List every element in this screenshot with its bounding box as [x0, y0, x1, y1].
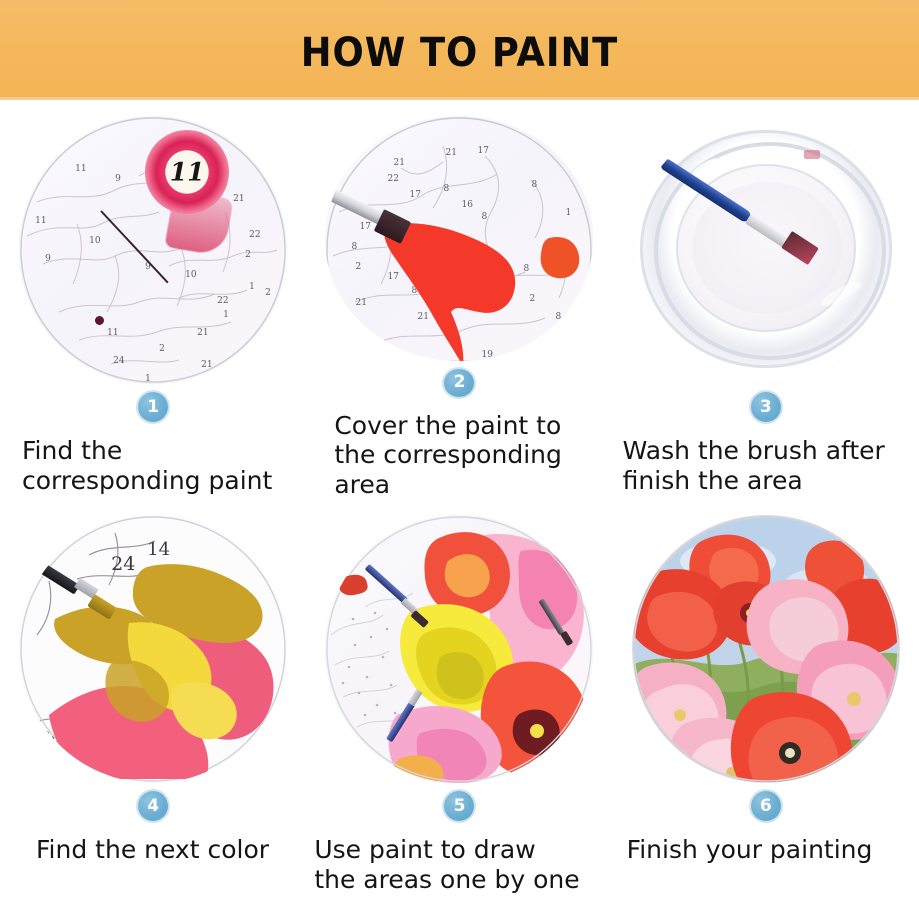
page-header-banner: HOW TO PAINT	[0, 0, 919, 100]
paint-pot-label: 11	[145, 158, 229, 187]
step-card-4: 14 24 10 2 4 Find the nex	[0, 499, 306, 898]
step-card-6: 6 Finish your painting	[613, 499, 919, 898]
step-caption-3: Wash the brush after finish the area	[613, 436, 919, 495]
paint-strokes	[19, 515, 287, 783]
finished-poppy-painting	[632, 515, 900, 783]
step-badge-5: 5	[444, 791, 474, 821]
step-image-5	[325, 515, 593, 783]
step-badge-2: 2	[444, 369, 474, 396]
step-caption-5: Use paint to draw the areas one by one	[306, 835, 612, 894]
step-card-5: 5 Use paint to draw the areas one by one	[306, 499, 612, 898]
step-badge-6: 6	[751, 791, 781, 821]
steps-grid: 11 9 11 10 9 9 10 21 22 2 1 2 22 1 21 21…	[0, 100, 919, 898]
paint-pot: 11	[145, 130, 229, 214]
step-card-1: 11 9 11 10 9 9 10 21 22 2 1 2 22 1 21 21…	[0, 100, 306, 499]
step-image-2: 21 17 21 22 17 8 16 8 8 1 17 8 2 17 8 21…	[325, 116, 593, 361]
step-image-6	[632, 515, 900, 783]
paint-residue-fleck	[804, 150, 820, 159]
red-paint-region	[325, 116, 593, 361]
step-badge-1: 1	[138, 392, 168, 422]
step-badge-4: 4	[138, 791, 168, 821]
step-image-3	[632, 116, 900, 384]
page-title: HOW TO PAINT	[301, 30, 618, 76]
flower-art	[325, 515, 593, 783]
step-caption-6: Finish your painting	[613, 835, 919, 865]
step-card-2: 21 17 21 22 17 8 16 8 8 1 17 8 2 17 8 21…	[306, 100, 612, 499]
step-caption-2: Cover the paint to the corresponding are…	[306, 411, 612, 500]
step-caption-4: Find the next color	[0, 835, 306, 865]
step-image-4: 14 24 10 2	[19, 515, 287, 783]
step-card-3: 3 Wash the brush after finish the area	[613, 100, 919, 499]
step-badge-3: 3	[751, 392, 781, 422]
step-caption-1: Find the corresponding paint	[0, 436, 306, 495]
step-image-1: 11 9 11 10 9 9 10 21 22 2 1 2 22 1 21 21…	[19, 116, 287, 384]
